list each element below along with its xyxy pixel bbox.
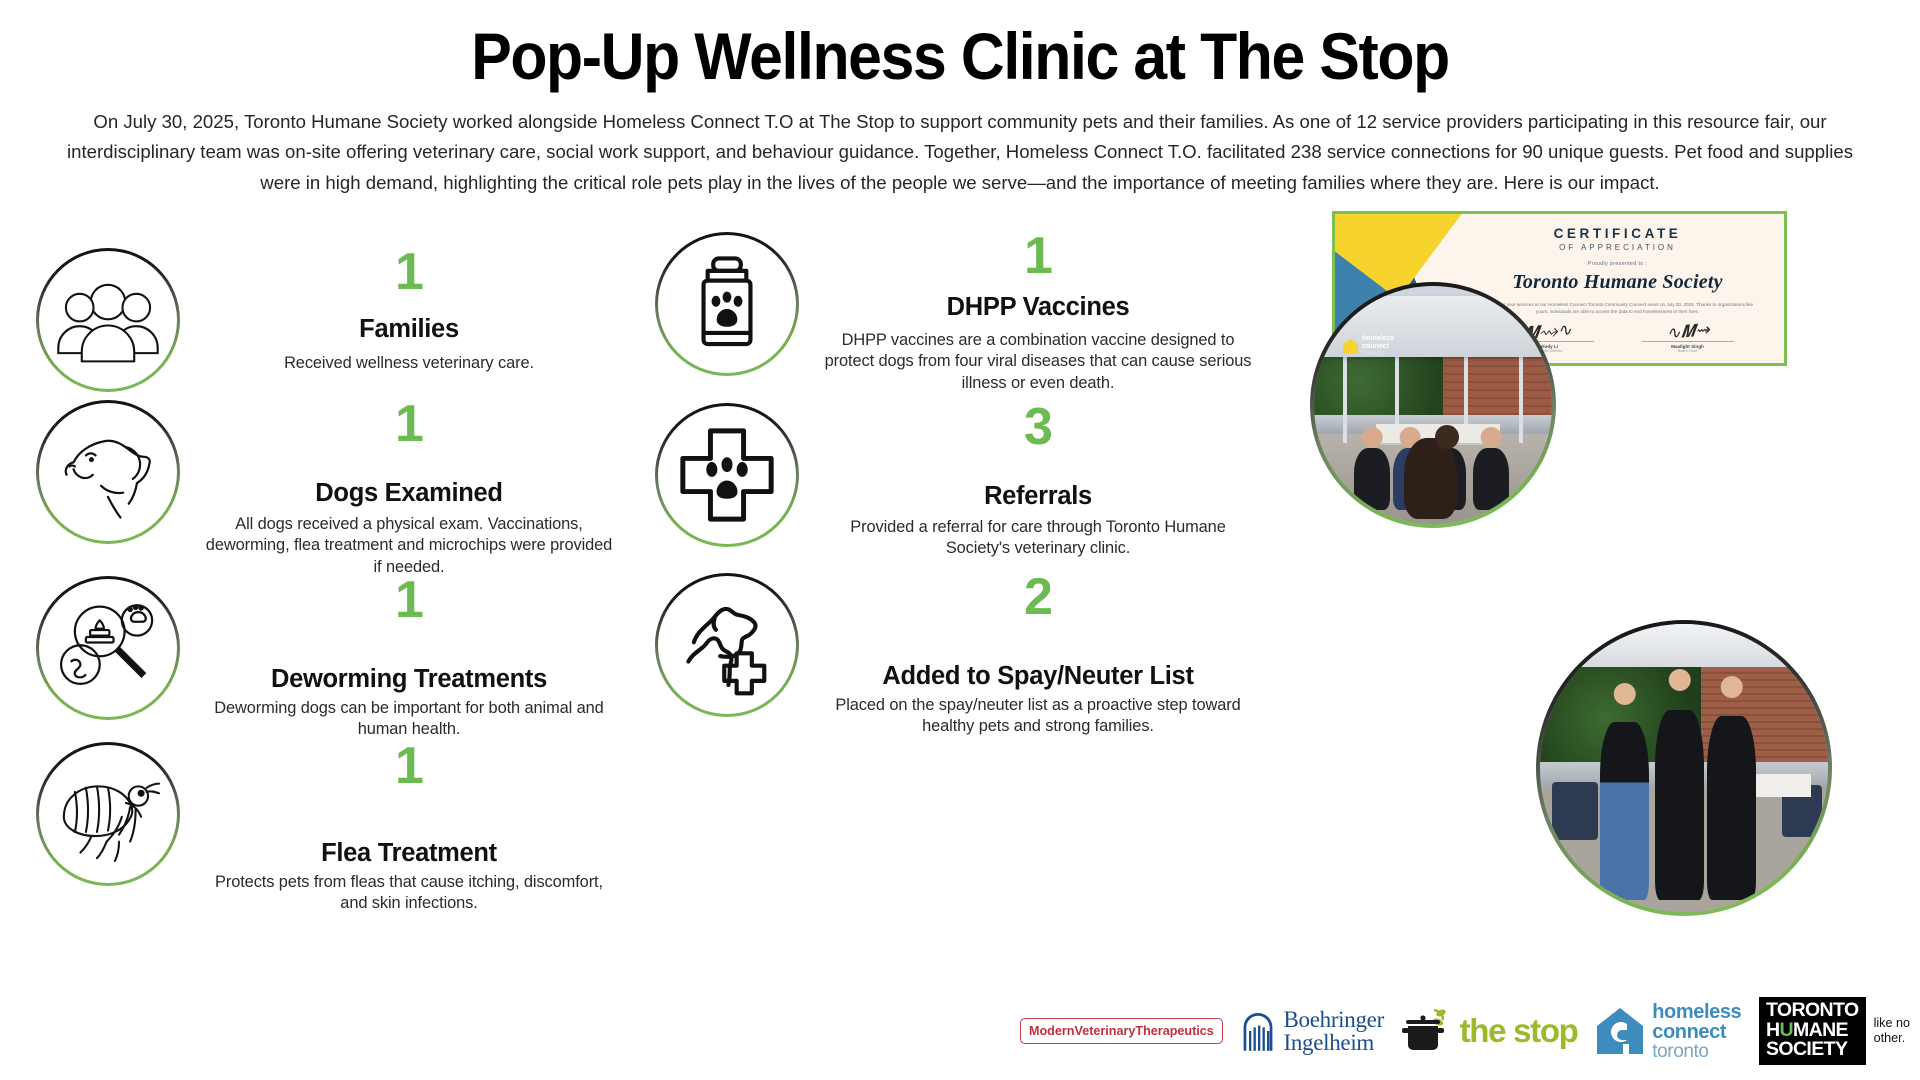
- stat-description: Protects pets from fleas that cause itch…: [202, 872, 616, 915]
- house-icon: [1343, 339, 1358, 354]
- certificate-subheading: OF APPRECIATION: [1465, 243, 1770, 252]
- logo-line-3: toronto: [1362, 350, 1394, 357]
- stat-label: Dogs Examined: [202, 479, 616, 508]
- stat-description: All dogs received a physical exam. Vacci…: [202, 514, 616, 579]
- logo-line-2: connect: [1362, 343, 1394, 350]
- signature-role: Board Chair: [1642, 349, 1734, 353]
- dog-head-icon: [36, 400, 180, 544]
- boehringer-mark-icon: [1240, 1009, 1276, 1053]
- stat-flea-treatment: 1 Flea Treatment Protects pets from flea…: [36, 742, 616, 915]
- certificate-logo-text: homeless connect toronto: [1362, 335, 1394, 357]
- stat-number: 1: [202, 248, 616, 297]
- ths-block: TORONTO HUMANE SOCIETY: [1759, 997, 1866, 1066]
- signature-line: [1642, 341, 1734, 342]
- stat-label: Referrals: [821, 482, 1255, 511]
- hc-line-3: toronto: [1652, 1042, 1741, 1061]
- stat-referrals: 3 Referrals Provided a referral for care…: [655, 403, 1255, 560]
- dog-cat-cross-icon: [655, 573, 799, 717]
- toronto-humane-society-logo: TORONTO HUMANE SOCIETY like no other.: [1759, 997, 1910, 1066]
- boehringer-ingelheim-logo: Boehringer Ingelheim: [1240, 1008, 1383, 1055]
- house-with-c-icon: [1595, 1006, 1645, 1056]
- stat-label: Flea Treatment: [202, 839, 616, 868]
- people-group-icon: [36, 248, 180, 392]
- stat-description: DHPP vaccines are a combination vaccine …: [821, 330, 1255, 395]
- ths-tagline-1: like no: [1874, 1016, 1910, 1031]
- certificate-signature: ∿𝑴⇝ Maalight Singh Board Chair: [1642, 325, 1734, 354]
- stat-spay-neuter-list: 2 Added to Spay/Neuter List Placed on th…: [655, 573, 1255, 738]
- stat-number: 1: [202, 400, 616, 449]
- flea-icon: [36, 742, 180, 886]
- bi-line-1: Boehringer: [1283, 1008, 1383, 1031]
- mvt-line-2: Veterinary: [1074, 1024, 1135, 1039]
- stat-label: DHPP Vaccines: [821, 293, 1255, 322]
- pot-with-sprout-icon: [1402, 1007, 1454, 1055]
- photo-team-tent: [1310, 282, 1556, 528]
- photo-team-three: [1536, 620, 1832, 916]
- ths-tagline: like no other.: [1874, 1016, 1910, 1046]
- certificate-presented-label: Proudly presented to :: [1465, 261, 1770, 267]
- homeless-connect-wordmark: homeless connect toronto: [1652, 1002, 1741, 1061]
- certificate-heading: CERTIFICATE: [1465, 226, 1770, 241]
- stat-label: Added to Spay/Neuter List: [821, 662, 1255, 691]
- stat-number: 1: [821, 232, 1255, 281]
- bi-line-2: Ingelheim: [1283, 1031, 1383, 1054]
- stat-label: Families: [202, 315, 616, 344]
- stat-label: Deworming Treatments: [202, 665, 616, 694]
- ths-tagline-2: other.: [1874, 1031, 1910, 1046]
- boehringer-name: Boehringer Ingelheim: [1283, 1008, 1383, 1055]
- mvt-line-1: Modern: [1029, 1024, 1074, 1039]
- stat-number: 3: [821, 403, 1255, 452]
- the-stop-wordmark: the stop: [1460, 1012, 1578, 1050]
- intro-paragraph: On July 30, 2025, Toronto Humane Society…: [65, 107, 1855, 197]
- stat-description: Placed on the spay/neuter list as a proa…: [821, 695, 1255, 738]
- logo-line-1: homeless: [1362, 335, 1394, 342]
- modern-veterinary-therapeutics-logo: Modern Veterinary Therapeutics: [1020, 1018, 1223, 1045]
- stat-dogs-examined: 1 Dogs Examined All dogs received a phys…: [36, 400, 616, 579]
- stat-number: 2: [821, 573, 1255, 622]
- stat-dhpp-vaccines: 1 DHPP Vaccines DHPP vaccines are a comb…: [655, 232, 1255, 395]
- ths-line-3: SOCIETY: [1766, 1040, 1859, 1060]
- stat-families: 1 Families Received wellness veterinary …: [36, 248, 616, 392]
- signature-scribble-icon: ∿𝑴⇝: [1641, 321, 1734, 343]
- stool-sample-magnifier-icon: [36, 576, 180, 720]
- homeless-connect-toronto-logo: homeless connect toronto: [1595, 1002, 1741, 1061]
- page-title: Pop-Up Wellness Clinic at The Stop: [77, 0, 1843, 91]
- stat-number: 1: [202, 742, 616, 791]
- hc-line-2: connect: [1652, 1022, 1741, 1042]
- stat-number: 1: [202, 576, 616, 625]
- stat-deworming-treatments: 1 Deworming Treatments Deworming dogs ca…: [36, 576, 616, 741]
- hc-line-1: homeless: [1652, 1002, 1741, 1022]
- the-stop-logo: the stop: [1402, 1007, 1578, 1055]
- stat-description: Received wellness veterinary care.: [202, 353, 616, 375]
- mvt-line-3: Therapeutics: [1135, 1024, 1213, 1039]
- vaccine-vial-paw-icon: [655, 232, 799, 376]
- stat-description: Deworming dogs can be important for both…: [202, 698, 616, 741]
- medical-cross-paw-icon: [655, 403, 799, 547]
- certificate-homeless-connect-logo: homeless connect toronto: [1343, 335, 1394, 357]
- sponsor-logos: Modern Veterinary Therapeutics Boehringe…: [1020, 992, 1910, 1070]
- stat-description: Provided a referral for care through Tor…: [821, 517, 1255, 560]
